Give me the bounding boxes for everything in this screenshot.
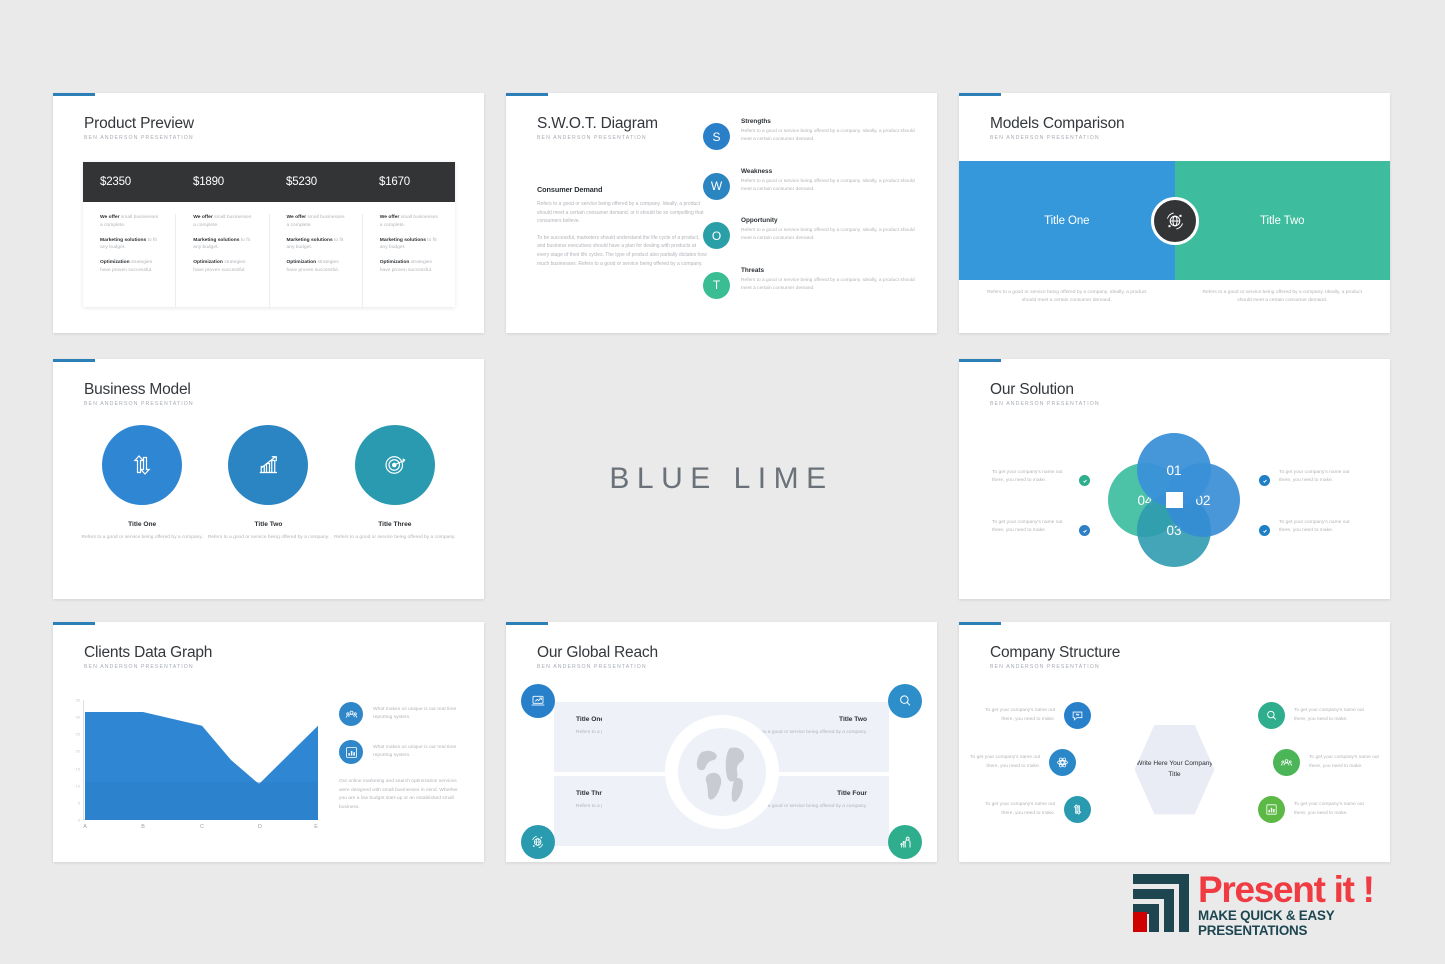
accent-bar (53, 622, 95, 625)
table-column: We offer small businesses a complete. Ma… (83, 214, 176, 307)
item-body: Refers to a good or service being offere… (332, 534, 458, 542)
swot-item-weakness[interactable]: W Weakness Refers to a good or service b… (703, 168, 918, 218)
page-subtitle: BEN ANDERSON PRESENTATION (537, 135, 647, 141)
globe-network-icon[interactable] (521, 825, 555, 859)
bar-chart-icon (1258, 796, 1285, 823)
page-title: Clients Data Graph (84, 644, 212, 662)
price-cell: $2350 (83, 176, 176, 188)
node-text: To get your company's name out there, yo… (1294, 707, 1370, 724)
swot-item-body: Refers to a good or service being offere… (741, 128, 918, 144)
node-text: To get your company's name out there, yo… (979, 801, 1055, 818)
exchange-arrows-icon (102, 425, 182, 505)
page-title: Our Global Reach (537, 644, 658, 662)
structure-node-2[interactable]: To get your company's name out there, yo… (964, 749, 1076, 776)
x-tick-label: E (314, 824, 318, 830)
growth-bar-chart-icon (228, 425, 308, 505)
node-text: To get your company's name out there, yo… (1309, 754, 1385, 771)
target-icon (355, 425, 435, 505)
swot-letter-badge: T (703, 272, 730, 299)
exchange-arrows-icon (1064, 796, 1091, 823)
page-subtitle: BEN ANDERSON PRESENTATION (84, 135, 194, 141)
structure-node-3[interactable]: To get your company's name out there, yo… (979, 796, 1091, 823)
logo-mark-icon (1131, 872, 1191, 934)
accent-bar (53, 359, 95, 362)
chart-feature-text: What makes us unique is our real time re… (373, 744, 459, 761)
chart-feature-text: What makes us unique is our real time re… (373, 706, 459, 723)
accent-bar (506, 622, 548, 625)
swot-item-threats[interactable]: T Threats Refers to a good or service be… (703, 267, 918, 317)
logo-wordmark: Present it ! (1198, 872, 1445, 907)
solution-note-1: To get your company's name out there, yo… (992, 469, 1068, 486)
globe-network-icon (1151, 197, 1199, 245)
slide-company-structure[interactable]: Company Structure BEN ANDERSON PRESENTAT… (959, 622, 1390, 862)
page-title: Our Solution (990, 381, 1074, 399)
accent-bar (959, 622, 1001, 625)
page-title: Models Comparison (990, 115, 1124, 133)
slide-models-comparison[interactable]: Models Comparison BEN ANDERSON PRESENTAT… (959, 93, 1390, 333)
globe-illustration (678, 728, 766, 816)
comparison-half-left[interactable]: Title One (959, 161, 1175, 280)
chart-paragraph: Our online marketing and search optimiza… (339, 778, 459, 813)
diagram-center-gap (1166, 492, 1183, 508)
business-model-item-three[interactable]: Title Three Refers to a good or service … (332, 425, 458, 542)
accent-bar (53, 93, 95, 96)
people-growth-icon[interactable] (888, 825, 922, 859)
feature-line: We offer small businesses a complete. (100, 214, 160, 230)
accent-bar (959, 359, 1001, 362)
feature-line: Marketing solutions to fit any budget. (193, 237, 253, 253)
pricing-table-header: $2350 $1890 $5230 $1670 (83, 162, 455, 202)
table-column: We offer small businesses a complete. Ma… (270, 214, 363, 307)
feature-line: We offer small businesses a complete. (380, 214, 440, 230)
swot-letter-badge: O (703, 222, 730, 249)
chart-side-notes: What makes us unique is our real time re… (339, 702, 459, 813)
slide-our-solution[interactable]: Our Solution BEN ANDERSON PRESENTATION 0… (959, 359, 1390, 599)
y-tick-label: 10 (76, 783, 80, 788)
x-tick-label: C (200, 824, 204, 830)
slide-swot-diagram[interactable]: S.W.O.T. Diagram BEN ANDERSON PRESENTATI… (506, 93, 937, 333)
x-tick-label: D (258, 824, 262, 830)
page-title: S.W.O.T. Diagram (537, 115, 658, 133)
swot-item-body: Refers to a good or service being offere… (741, 178, 918, 194)
y-tick-label: 0 (78, 818, 80, 823)
slide-global-reach[interactable]: Our Global Reach BEN ANDERSON PRESENTATI… (506, 622, 937, 862)
item-title: Title Three (332, 521, 458, 528)
solution-note-2: To get your company's name out there, yo… (992, 519, 1068, 536)
accent-bar (959, 93, 1001, 96)
structure-node-5[interactable]: To get your company's name out there, yo… (1273, 749, 1385, 776)
item-title: Title One (79, 521, 205, 528)
comparison-half-right[interactable]: Title Two (1175, 161, 1391, 280)
swot-item-title: Strengths (741, 118, 918, 125)
feature-line: We offer small businesses a complete. (287, 214, 347, 230)
comparison-label-left: Title One (1044, 215, 1089, 227)
page-subtitle: BEN ANDERSON PRESENTATION (990, 664, 1100, 670)
people-group-icon (1273, 749, 1300, 776)
slide-business-model[interactable]: Business Model BEN ANDERSON PRESENTATION… (53, 359, 484, 599)
solution-diagram: 04 03 02 01 To get your company's name o… (959, 419, 1390, 589)
price-cell: $5230 (269, 176, 362, 188)
world-map-icon (678, 728, 766, 816)
x-tick-label: B (141, 824, 145, 830)
check-icon (1079, 475, 1090, 486)
feature-line: Optimization strategies have proven succ… (287, 259, 347, 275)
solution-note-4: To get your company's name out there, yo… (1279, 519, 1355, 536)
y-tick-label: 25 (76, 732, 80, 737)
node-text: To get your company's name out there, yo… (979, 707, 1055, 724)
table-column: We offer small businesses a complete. Ma… (363, 214, 455, 307)
chat-bubble-icon (1064, 702, 1091, 729)
center-hexagon-text: Write Here Your Company Title (1135, 759, 1215, 779)
pricing-table: $2350 $1890 $5230 $1670 We offer small b… (83, 162, 455, 307)
feature-line: Optimization strategies have proven succ… (100, 259, 160, 275)
present-it-logo: Present it ! MAKE QUICK & EASY PRESENTAT… (1131, 872, 1445, 938)
y-tick-label: 35 (76, 698, 80, 703)
logo-tagline: MAKE QUICK & EASY PRESENTATIONS (1198, 908, 1445, 938)
chart-feature-1[interactable]: What makes us unique is our real time re… (339, 702, 459, 726)
feature-line: Optimization strategies have proven succ… (193, 259, 253, 275)
y-tick-label: 5 (78, 800, 80, 805)
swot-item-list: S Strengths Refers to a good or service … (703, 118, 918, 316)
item-body: Refers to a good or service being offere… (205, 534, 331, 542)
area-chart: 35 30 25 20 15 10 5 0 A B C D E (83, 700, 318, 820)
solution-note-3: To get your company's name out there, yo… (1279, 469, 1355, 486)
slide-product-preview[interactable]: Product Preview BEN ANDERSON PRESENTATIO… (53, 93, 484, 333)
swot-item-strengths[interactable]: S Strengths Refers to a good or service … (703, 118, 918, 168)
y-tick-label: 15 (76, 766, 80, 771)
feature-line: Optimization strategies have proven succ… (380, 259, 440, 275)
business-model-item-one[interactable]: Title One Refers to a good or service be… (79, 425, 205, 542)
consumer-demand-block: Consumer Demand Refers to a good or serv… (537, 185, 709, 276)
structure-node-4[interactable]: To get your company's name out there, yo… (1258, 702, 1370, 729)
consumer-demand-heading: Consumer Demand (537, 185, 709, 194)
swot-item-body: Refers to a good or service being offere… (741, 277, 918, 293)
page-title: Company Structure (990, 644, 1120, 662)
check-icon (1079, 525, 1090, 536)
feature-line: We offer small businesses a complete. (193, 214, 253, 230)
feature-line: Marketing solutions to fit any budget. (380, 237, 440, 253)
business-model-item-two[interactable]: Title Two Refers to a good or service be… (205, 425, 331, 542)
pricing-table-body: We offer small businesses a complete. Ma… (83, 202, 455, 307)
consumer-demand-paragraph-1: Refers to a good or service being offere… (537, 200, 709, 226)
feature-line: Marketing solutions to fit any budget. (287, 237, 347, 253)
y-tick-label: 30 (76, 715, 80, 720)
comparison-caption-right: Refers to a good or service being offere… (1175, 289, 1391, 305)
slide-clients-data-graph[interactable]: Clients Data Graph BEN ANDERSON PRESENTA… (53, 622, 484, 862)
global-reach-diagram: Title One Refers to a good or service be… (506, 684, 937, 859)
node-text: To get your company's name out there, yo… (964, 754, 1040, 771)
comparison-label-right: Title Two (1260, 215, 1304, 227)
center-hexagon[interactable]: Write Here Your Company Title (1135, 725, 1215, 815)
consumer-demand-paragraph-2: To be successful, marketers should under… (537, 234, 709, 268)
swot-item-body: Refers to a good or service being offere… (741, 227, 918, 243)
page-title: Business Model (84, 381, 191, 399)
page-title: Product Preview (84, 115, 194, 133)
page-subtitle: BEN ANDERSON PRESENTATION (84, 664, 194, 670)
search-icon (1258, 702, 1285, 729)
search-icon[interactable] (888, 684, 922, 718)
node-text: To get your company's name out there, yo… (1294, 801, 1370, 818)
bar-chart-icon (339, 740, 363, 764)
atom-gear-icon (1049, 749, 1076, 776)
page-subtitle: BEN ANDERSON PRESENTATION (537, 664, 647, 670)
feature-line: Marketing solutions to fit any budget. (100, 237, 160, 253)
item-body: Refers to a good or service being offere… (79, 534, 205, 542)
brand-text: BLUE LIME (609, 462, 833, 496)
y-tick-label: 20 (76, 749, 80, 754)
area-series (83, 700, 318, 820)
business-model-items: Title One Refers to a good or service be… (79, 425, 458, 542)
swot-item-title: Threats (741, 267, 918, 274)
comparison-captions: Refers to a good or service being offere… (959, 289, 1390, 305)
page-subtitle: BEN ANDERSON PRESENTATION (990, 401, 1100, 407)
structure-node-1[interactable]: To get your company's name out there, yo… (979, 702, 1091, 729)
price-cell: $1670 (362, 176, 455, 188)
check-icon (1259, 475, 1270, 486)
page-subtitle: BEN ANDERSON PRESENTATION (990, 135, 1100, 141)
deck-brand-title: BLUE LIME (506, 359, 937, 599)
check-icon (1259, 525, 1270, 536)
table-column: We offer small businesses a complete. Ma… (176, 214, 269, 307)
company-structure-diagram: Write Here Your Company Title To get you… (959, 682, 1390, 857)
swot-item-opportunity[interactable]: O Opportunity Refers to a good or servic… (703, 217, 918, 267)
slide-deck: Product Preview BEN ANDERSON PRESENTATIO… (0, 0, 1445, 964)
analytics-people-icon (339, 702, 363, 726)
laptop-chart-icon[interactable] (521, 684, 555, 718)
globe-ring (665, 715, 779, 829)
chart-feature-2[interactable]: What makes us unique is our real time re… (339, 740, 459, 764)
item-title: Title Two (205, 521, 331, 528)
comparison-caption-left: Refers to a good or service being offere… (959, 289, 1175, 305)
accent-bar (506, 93, 548, 96)
page-subtitle: BEN ANDERSON PRESENTATION (84, 401, 194, 407)
swot-item-title: Opportunity (741, 217, 918, 224)
structure-node-6[interactable]: To get your company's name out there, yo… (1258, 796, 1370, 823)
swot-letter-badge: S (703, 123, 730, 150)
swot-letter-badge: W (703, 173, 730, 200)
price-cell: $1890 (176, 176, 269, 188)
x-tick-label: A (83, 824, 87, 830)
swot-item-title: Weakness (741, 168, 918, 175)
